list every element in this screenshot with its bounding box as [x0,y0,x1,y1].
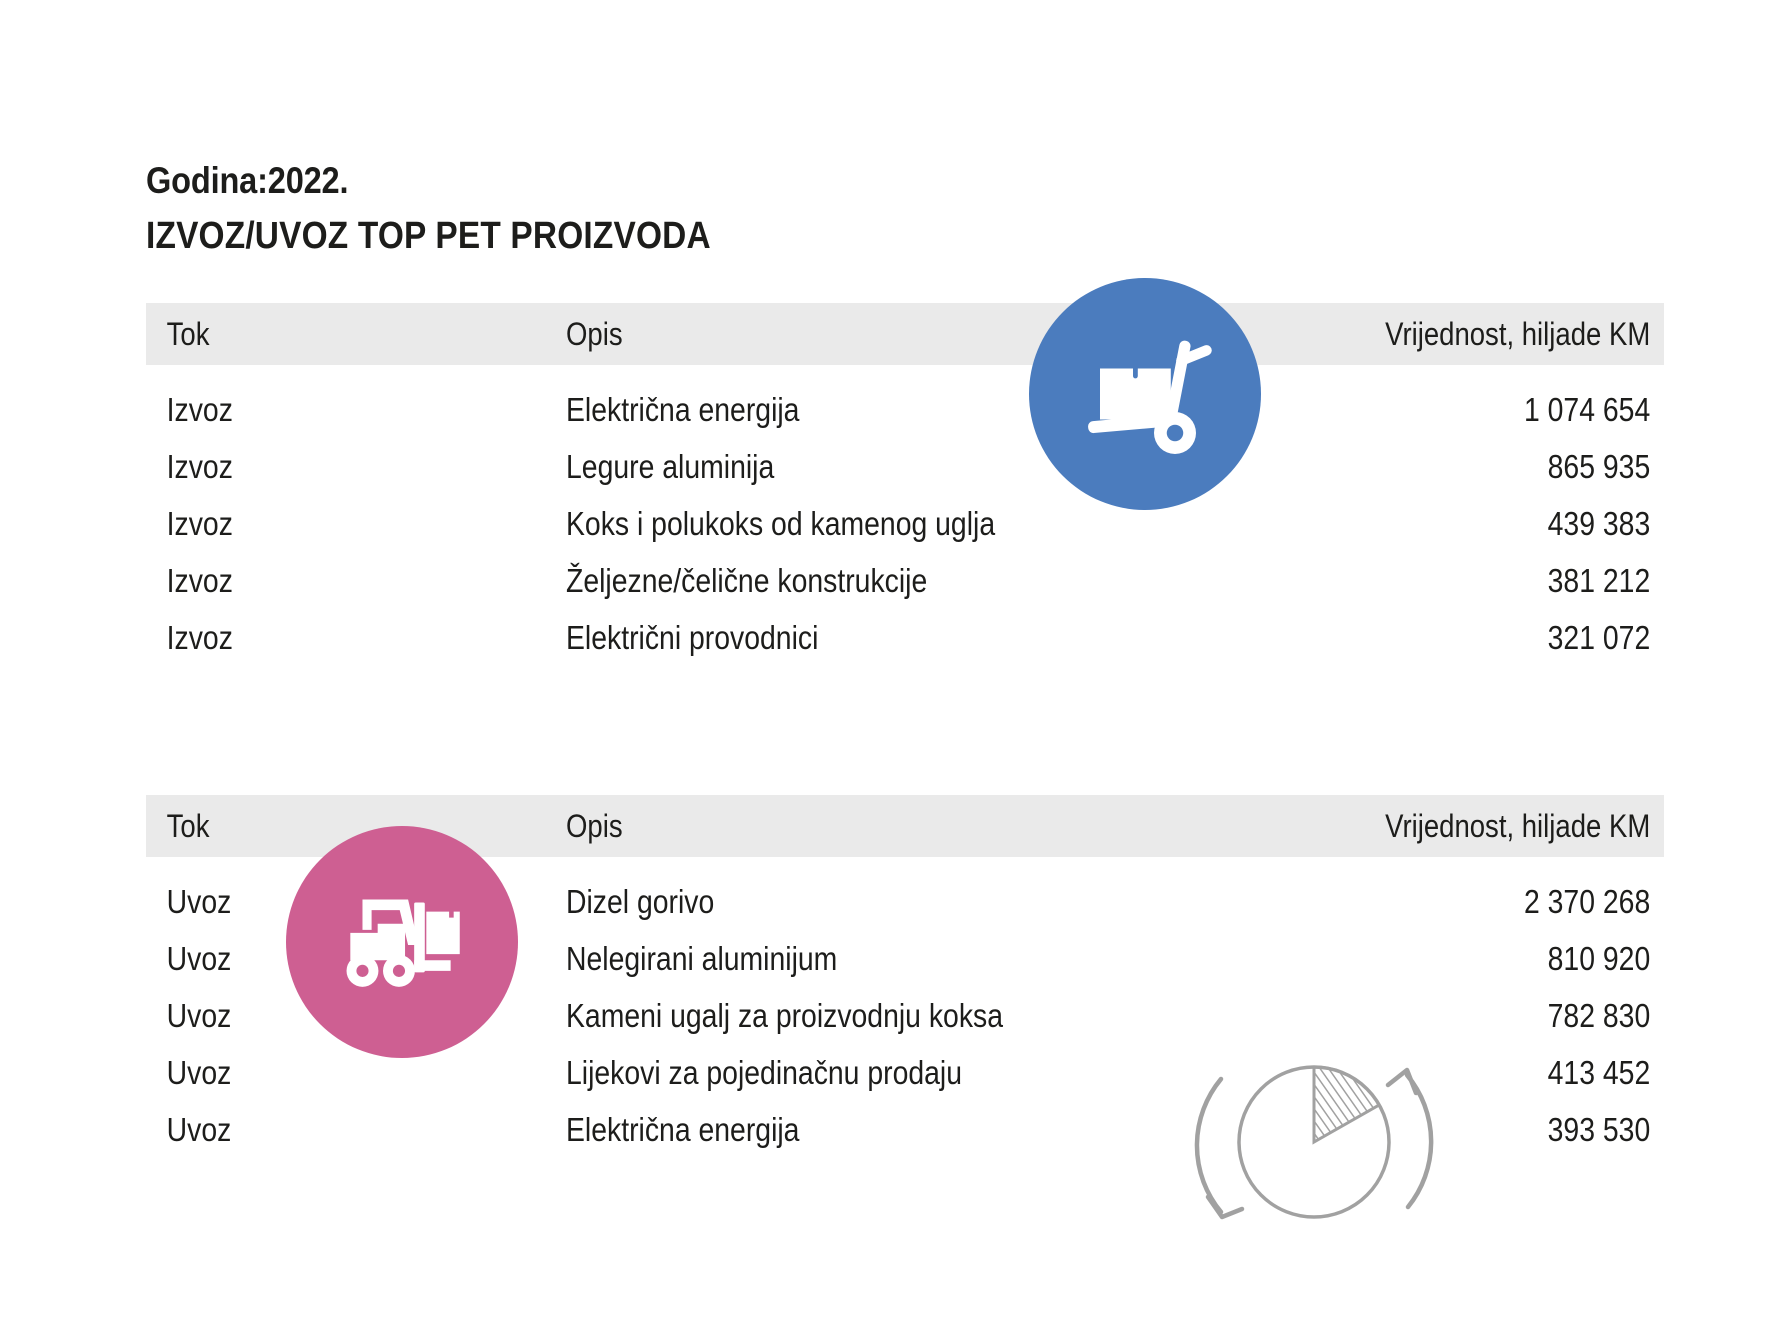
cell-flow: Izvoz [146,619,507,657]
cell-flow: Uvoz [146,1111,507,1149]
export-badge [1029,278,1261,510]
cell-value: 321 072 [1320,619,1664,657]
hand-truck-icon [1070,319,1220,469]
cell-value: 381 212 [1320,562,1664,600]
cell-description: Lijekovi za pojedinačnu prodaju [566,1054,1166,1092]
export-table-body: Izvoz Električna energija 1 074 654 Izvo… [146,381,1664,666]
cell-description: Dizel gorivo [566,883,1166,921]
page-title: IZVOZ/UVOZ TOP PET PROIZVODA [146,215,1202,258]
cell-value: 1 074 654 [1320,391,1664,429]
table-row: Izvoz Električna energija 1 074 654 [146,381,1664,438]
year-label: Godina:2022. [146,160,1202,201]
column-header-value: Vrijednost, hiljade KM [1320,808,1664,845]
table-row: Izvoz Električni provodnici 321 072 [146,609,1664,666]
cell-description: Kameni ugalj za proizvodnju koksa [566,997,1166,1035]
cell-flow: Izvoz [146,562,507,600]
cell-value: 810 920 [1320,940,1664,978]
export-table: Tok Opis Vrijednost, hiljade KM Izvoz El… [146,303,1664,666]
column-header-value: Vrijednost, hiljade KM [1320,316,1664,353]
cell-flow: Izvoz [146,391,507,429]
forklift-icon [326,866,478,1018]
table-row: Izvoz Željezne/čelične konstrukcije 381 … [146,552,1664,609]
cell-description: Električni provodnici [566,619,1166,657]
cell-value: 782 830 [1320,997,1664,1035]
table-row: Izvoz Koks i polukoks od kamenog uglja 4… [146,495,1664,552]
table-row: Izvoz Legure aluminija 865 935 [146,438,1664,495]
export-table-header: Tok Opis Vrijednost, hiljade KM [146,303,1664,365]
cell-value: 2 370 268 [1320,883,1664,921]
cell-flow: Uvoz [146,1054,507,1092]
cell-description: Koks i polukoks od kamenog uglja [566,505,1166,543]
cell-description: Nelegirani aluminijum [566,940,1166,978]
column-header-description: Opis [566,808,1166,845]
cell-flow: Izvoz [146,448,507,486]
cell-value: 865 935 [1320,448,1664,486]
cell-description: Električna energija [566,1111,1166,1149]
title-block: Godina:2022. IZVOZ/UVOZ TOP PET PROIZVOD… [146,160,1346,258]
import-badge [286,826,518,1058]
cell-flow: Izvoz [146,505,507,543]
table-row: Uvoz Električna energija 393 530 [146,1101,1664,1158]
pie-chart-recycle-arrows-icon [1186,1037,1436,1247]
column-header-flow: Tok [146,316,507,353]
cell-description: Željezne/čelične konstrukcije [566,562,1166,600]
cell-value: 439 383 [1320,505,1664,543]
